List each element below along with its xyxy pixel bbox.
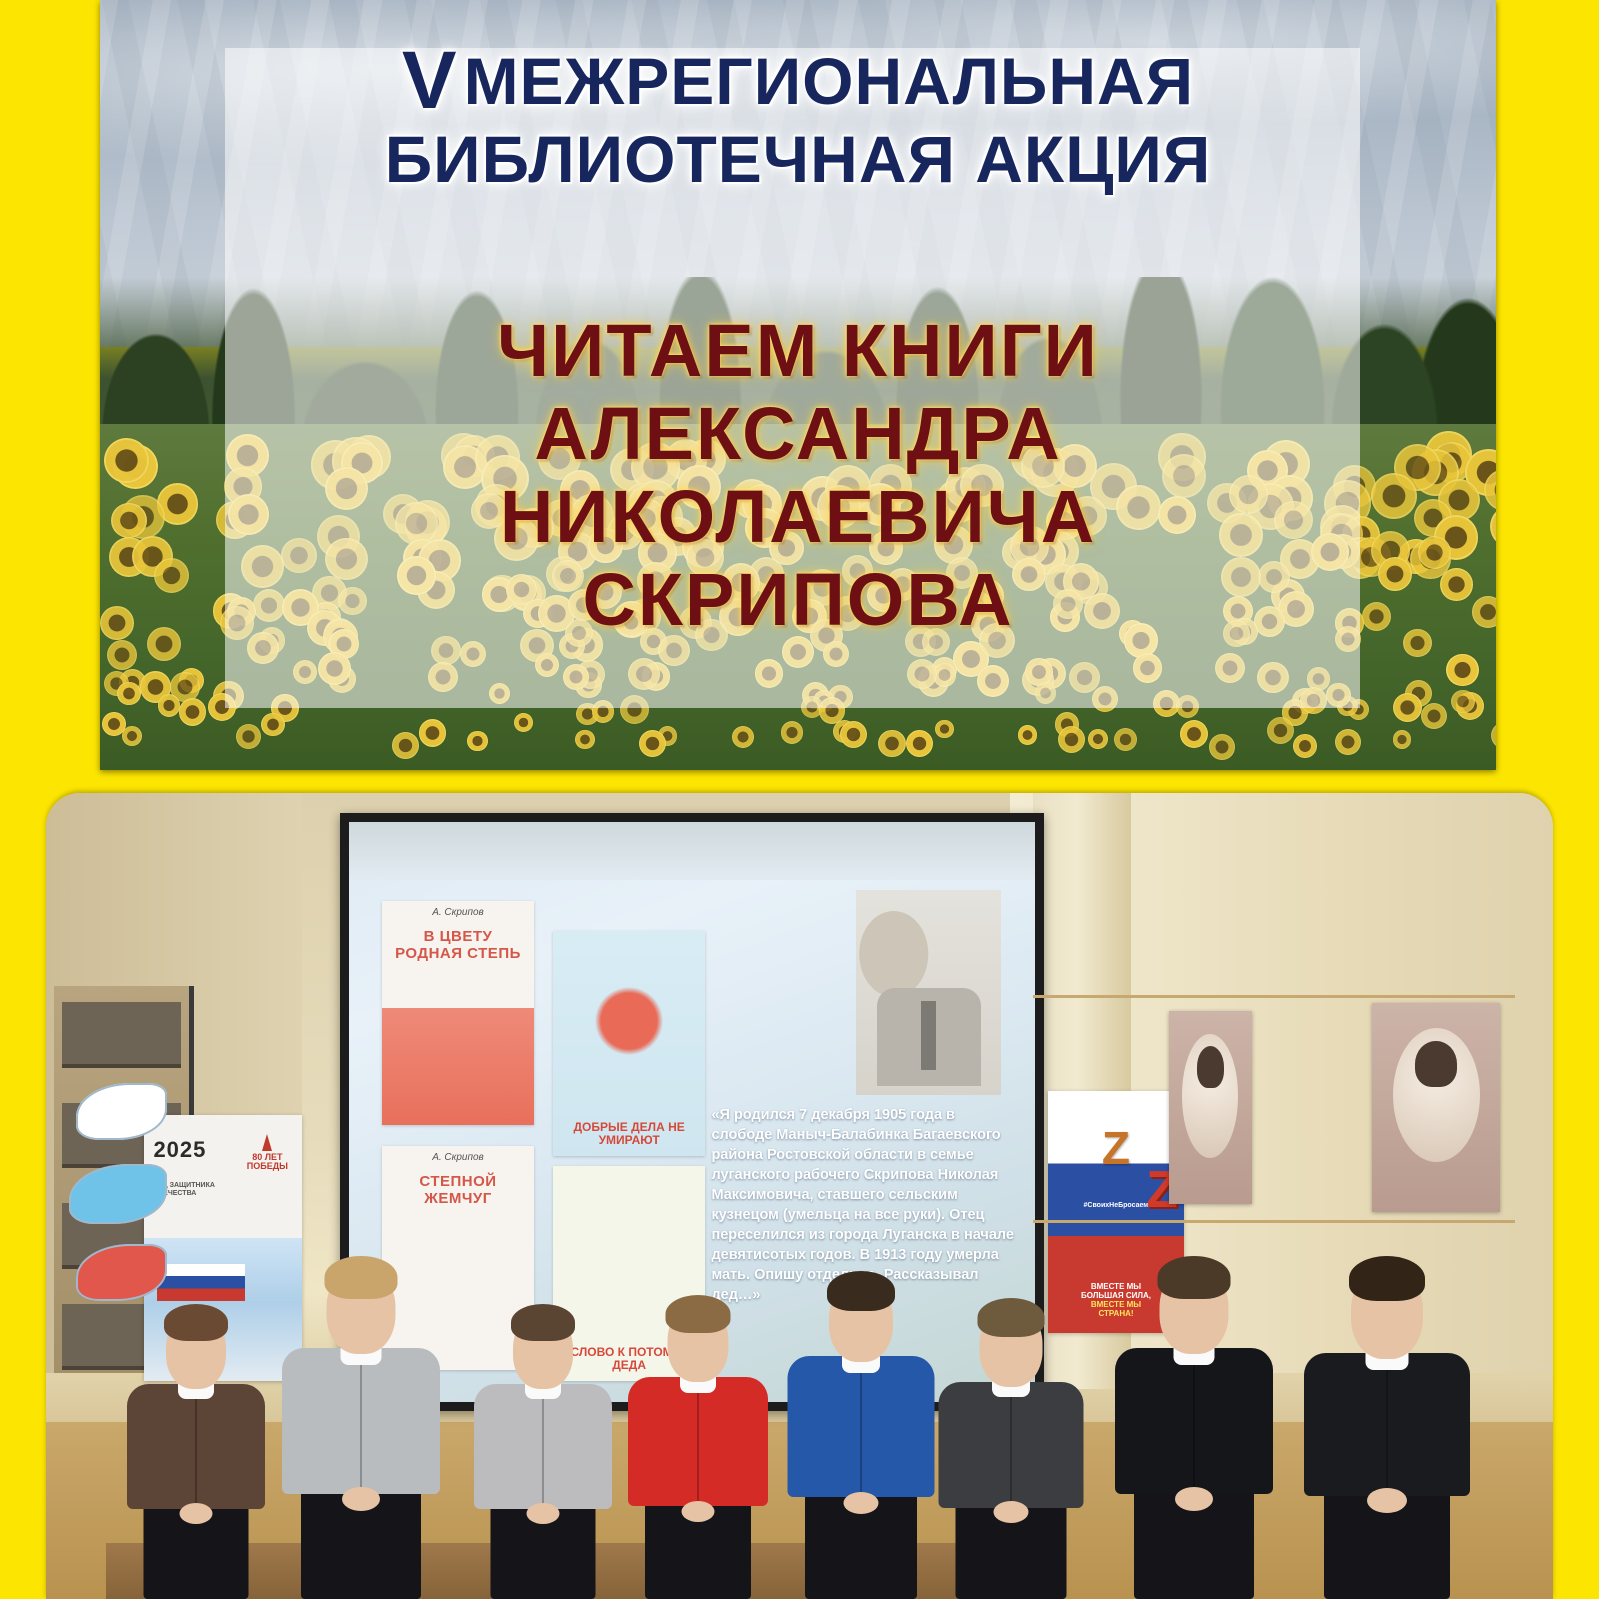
student-jacket-zip [195, 1391, 197, 1504]
screen-header-strip [349, 822, 1035, 880]
book-title: В ЦВЕТУ РОДНАЯ СТЕПЬ [391, 928, 524, 963]
student-4 [622, 1221, 774, 1599]
sunflower-icon [1180, 720, 1208, 748]
student-hair [665, 1295, 730, 1333]
banner-heading: VМЕЖРЕГИОНАЛЬНАЯ БИБЛИОТЕЧНАЯ АКЦИЯ [100, 38, 1496, 195]
student-2 [275, 1187, 447, 1599]
banner-line-2: БИБЛИОТЕЧНАЯ АКЦИЯ [385, 122, 1212, 196]
sunflower-icon [236, 724, 261, 749]
student-jacket-zip [1010, 1390, 1012, 1503]
student-8 [1297, 1193, 1477, 1599]
sunflower-icon [1335, 729, 1361, 755]
sunflower-icon [1209, 734, 1235, 760]
sunflower-icon [639, 730, 666, 757]
motherland-statue-icon [262, 1134, 272, 1151]
sunflower-icon [1058, 726, 1085, 753]
banner-line-1: МЕЖРЕГИОНАЛЬНАЯ [464, 44, 1195, 118]
sunflower-icon [906, 730, 933, 757]
sunflower-icon [158, 694, 181, 717]
sunflower-icon [840, 721, 867, 748]
student-hands [180, 1503, 213, 1524]
sunflower-icon [1293, 734, 1317, 758]
student-7 [1108, 1187, 1280, 1599]
student-hair [511, 1304, 575, 1341]
sunflower-icon [111, 503, 147, 539]
sunflower-icon [1472, 596, 1496, 628]
student-jacket-zip [860, 1365, 862, 1492]
sunflower-icon [732, 726, 754, 748]
main-title-line-1: ЧИТАЕМ КНИГИ [160, 310, 1436, 393]
poster-2025-year: 2025 [153, 1137, 206, 1163]
z-symbol-icon: Z [1102, 1125, 1130, 1171]
sunflower-icon [261, 713, 285, 737]
sunflower-icon [467, 731, 487, 751]
student-hands [844, 1492, 879, 1514]
student-hair [1158, 1256, 1231, 1299]
sunflower-icon [1088, 729, 1108, 749]
sunflower-icon [514, 713, 533, 732]
sunflower-icon [878, 730, 906, 758]
student-jacket-zip [1386, 1361, 1388, 1490]
portrait-oval [1182, 1034, 1238, 1158]
writer-portrait-frame [1372, 1003, 1500, 1213]
book-cover-art [382, 1008, 533, 1125]
book-author: А. Скрипов [391, 1152, 524, 1163]
student-jacket-zip [697, 1385, 699, 1501]
portrait-tie [921, 1001, 935, 1070]
author-portrait [856, 890, 1001, 1094]
roman-numeral-five: V [402, 35, 458, 126]
book-cover: А. Скрипов В ЦВЕТУ РОДНАЯ СТЕПЬ [382, 901, 533, 1126]
sunflower-icon [1491, 722, 1496, 749]
sunflower-icon [1490, 505, 1496, 549]
student-hands [994, 1501, 1029, 1523]
book-title: ДОБРЫЕ ДЕЛА НЕ УМИРАЮТ [559, 1121, 698, 1147]
sunflower-icon [1421, 703, 1447, 729]
student-hair [325, 1256, 398, 1299]
sunflower-icon [1267, 717, 1294, 744]
student-hair [827, 1271, 895, 1311]
student-6 [932, 1227, 1090, 1599]
main-title: ЧИТАЕМ КНИГИ АЛЕКСАНДРА НИКОЛАЕВИЧА СКРИ… [160, 310, 1436, 642]
sunflower-icon [1451, 690, 1475, 714]
student-5 [781, 1197, 941, 1599]
sunflower-icon [100, 606, 134, 640]
student-hair [1349, 1256, 1425, 1301]
bookshelf-row [62, 1002, 181, 1068]
student-hands [526, 1503, 559, 1524]
event-photograph: 2025 ГОД ЗАЩИТНИКА ОТЕЧЕСТВА 80 ЛЕТ ПОБЕ… [46, 793, 1553, 1599]
main-title-line-3: НИКОЛАЕВИЧА [160, 476, 1436, 559]
sunflower-icon [1114, 728, 1137, 751]
student-hands [681, 1501, 714, 1522]
student-1 [121, 1229, 271, 1599]
book-cover: ДОБРЫЕ ДЕЛА НЕ УМИРАЮТ [553, 931, 704, 1156]
poster-2025-subtitle: ГОД ЗАЩИТНИКА ОТЕЧЕСТВА [153, 1182, 242, 1197]
sunflower-icon [575, 730, 595, 750]
student-hands [1175, 1487, 1213, 1511]
event-banner: VМЕЖРЕГИОНАЛЬНАЯ БИБЛИОТЕЧНАЯ АКЦИЯ ЧИТА… [100, 0, 1496, 770]
student-jacket-zip [1193, 1357, 1195, 1488]
sunflower-icon [1018, 725, 1038, 745]
sunflower-icon [1440, 568, 1473, 601]
sunflower-icon [419, 719, 447, 747]
sunflower-icon [179, 698, 206, 725]
picture-rail [1033, 995, 1515, 998]
sunflower-icon [392, 732, 419, 759]
student-hands [1367, 1488, 1407, 1513]
portrait-oval [1393, 1028, 1480, 1162]
sunflower-icon [781, 721, 804, 744]
student-hair [978, 1298, 1045, 1337]
main-title-line-4: СКРИПОВА [160, 559, 1436, 642]
sunflower-icon [935, 720, 954, 739]
book-author: А. Скрипов [391, 907, 524, 918]
sunflower-icon [1393, 693, 1422, 722]
sunflower-icon [1446, 654, 1478, 686]
student-hands [342, 1487, 380, 1511]
sunflower-icon [117, 682, 141, 706]
student-jacket-zip [360, 1357, 362, 1488]
student-hair [164, 1304, 228, 1341]
portrait-head [859, 911, 929, 997]
student-3 [468, 1229, 618, 1599]
sunflower-icon [1393, 730, 1411, 748]
student-jacket-zip [542, 1391, 544, 1504]
sunflower-icon [104, 438, 149, 483]
sunflower-icon [107, 640, 137, 670]
main-title-line-2: АЛЕКСАНДРА [160, 393, 1436, 476]
writer-portrait-frame [1169, 1011, 1252, 1204]
